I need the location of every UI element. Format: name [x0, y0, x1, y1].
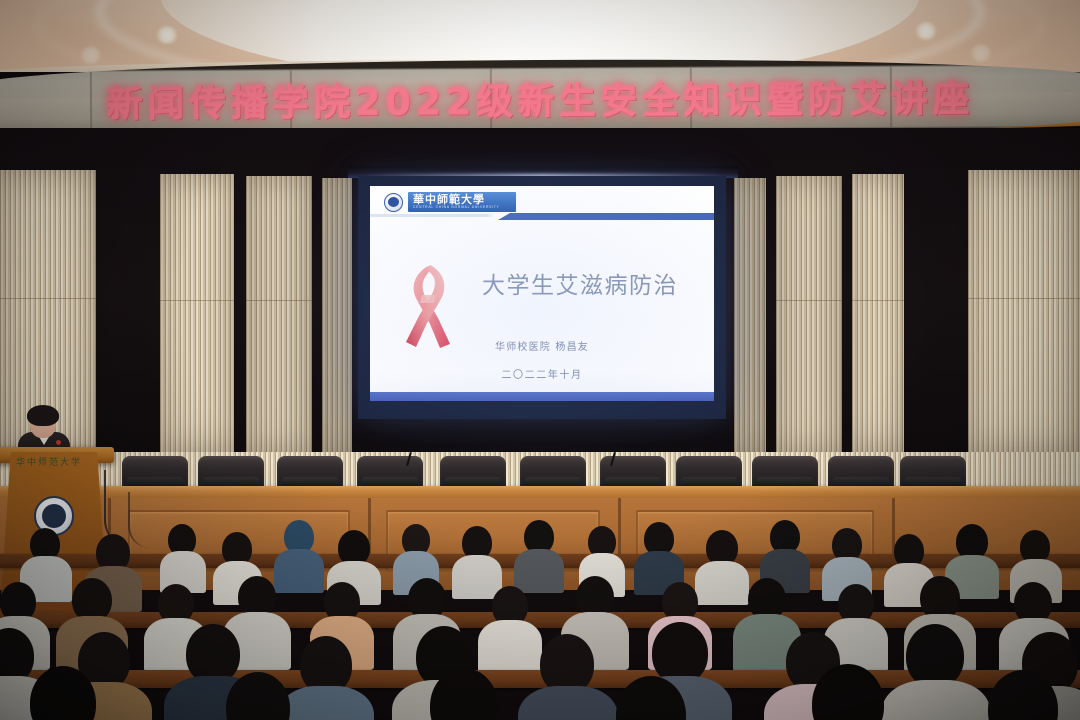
slide-date: 二〇二二年十月: [370, 366, 714, 381]
downlight-icon: [80, 46, 102, 64]
aids-ribbon-icon: [394, 252, 460, 352]
audience-seating: [0, 520, 1080, 720]
university-emblem-icon: [384, 193, 403, 212]
slide-header-chevron: [498, 213, 714, 220]
university-logo-plate: 華中師範大學 CENTRAL CHINA NORMAL UNIVERSITY: [408, 192, 516, 212]
speaker-hair: [27, 405, 59, 426]
presentation-slide: 華中師範大學 CENTRAL CHINA NORMAL UNIVERSITY: [370, 186, 714, 401]
slide-logo-header: 華中師範大學 CENTRAL CHINA NORMAL UNIVERSITY: [384, 192, 516, 212]
podium-nameplate: 华中师范大学: [16, 455, 82, 468]
university-name-cn: 華中師範大學: [413, 194, 516, 205]
university-name-en: CENTRAL CHINA NORMAL UNIVERSITY: [413, 205, 516, 210]
slide-title: 大学生艾滋病防治: [482, 266, 678, 300]
wall-slat-panel: [160, 174, 234, 452]
wall-slat-panel: [246, 176, 312, 452]
downlight-icon: [156, 26, 178, 44]
slide-bottom-bar: [370, 392, 714, 401]
wall-slat-panel: [322, 178, 352, 452]
lecture-hall-scene: 新闻传播学院2022级新生安全知识暨防艾讲座: [0, 0, 1080, 720]
slide-author: 华师校医院 杨昌友: [370, 338, 714, 353]
banner-title-text: 新闻传播学院2022级新生安全知识暨防艾讲座: [0, 67, 1080, 128]
wall-slat-panel: [968, 170, 1080, 452]
speaker-badge: [56, 440, 61, 445]
projection-screen: 華中師範大學 CENTRAL CHINA NORMAL UNIVERSITY: [358, 176, 726, 419]
wall-slat-panel: [852, 174, 904, 452]
wall-slat-panel: [734, 178, 766, 452]
wall-slat-panel: [776, 176, 842, 452]
downlight-icon: [915, 22, 937, 40]
